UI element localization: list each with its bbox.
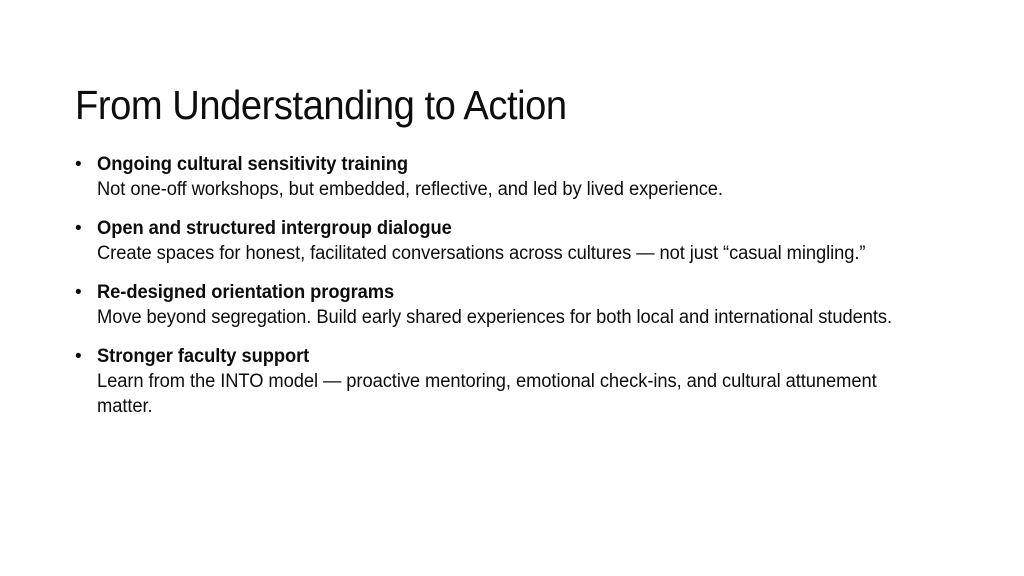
bullet-heading: Ongoing cultural sensitivity training: [97, 152, 924, 177]
list-item: • Re-designed orientation programs Move …: [74, 280, 954, 330]
bullet-description: Not one-off workshops, but embedded, ref…: [97, 177, 924, 202]
presentation-slide: From Understanding to Action • Ongoing c…: [0, 0, 1024, 576]
list-item: • Stronger faculty support Learn from th…: [74, 344, 954, 419]
bullet-point-icon: •: [75, 216, 82, 241]
bullet-point-icon: •: [75, 152, 82, 177]
list-item: • Ongoing cultural sensitivity training …: [74, 152, 954, 202]
bullet-list: • Ongoing cultural sensitivity training …: [74, 152, 954, 419]
list-item: • Open and structured intergroup dialogu…: [74, 216, 954, 266]
bullet-description: Learn from the INTO model — proactive me…: [97, 369, 924, 419]
bullet-heading: Stronger faculty support: [97, 344, 924, 369]
bullet-description: Create spaces for honest, facilitated co…: [97, 241, 924, 266]
page-title: From Understanding to Action: [75, 83, 893, 129]
bullet-point-icon: •: [75, 280, 82, 305]
bullet-point-icon: •: [75, 344, 82, 369]
bullet-heading: Re-designed orientation programs: [97, 280, 924, 305]
bullet-heading: Open and structured intergroup dialogue: [97, 216, 924, 241]
bullet-description: Move beyond segregation. Build early sha…: [97, 305, 924, 330]
